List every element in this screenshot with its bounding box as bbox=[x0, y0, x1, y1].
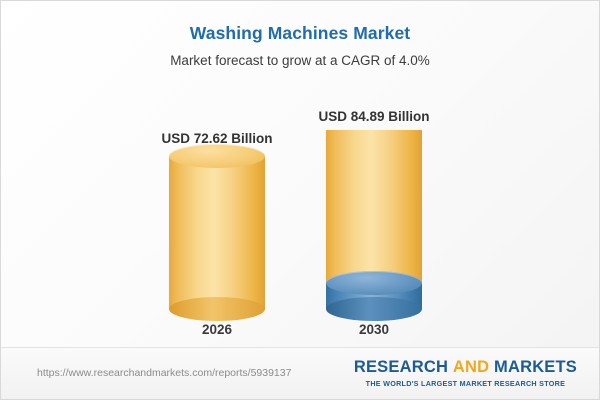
category-label-2030: 2030 bbox=[309, 322, 439, 337]
logo-tagline: THE WORLD'S LARGEST MARKET RESEARCH STOR… bbox=[354, 379, 577, 388]
logo-wordmark: RESEARCH AND MARKETS bbox=[354, 358, 577, 377]
segment-top-cap bbox=[326, 271, 422, 295]
bar-value-label: USD 84.89 Billion bbox=[284, 109, 464, 124]
cylinder-stack-2026[interactable] bbox=[169, 156, 265, 309]
chart-plot-area: USD 72.62 Billion 2026 USD 84.89 Billion bbox=[1, 1, 600, 349]
chart-card: Washing Machines Market Market forecast … bbox=[0, 0, 600, 400]
bar-segment-base[interactable] bbox=[169, 156, 265, 309]
bar-segment-base[interactable] bbox=[326, 130, 422, 283]
cylinder-stack-2030[interactable] bbox=[326, 130, 422, 309]
segment-top-cap bbox=[169, 144, 265, 168]
segment-body bbox=[326, 130, 422, 283]
bar-group-2030: USD 84.89 Billion 2030 bbox=[309, 1, 439, 349]
logo-word-markets: MARKETS bbox=[494, 358, 577, 376]
research-and-markets-logo[interactable]: RESEARCH AND MARKETS THE WORLD'S LARGEST… bbox=[354, 358, 577, 388]
category-label-2026: 2026 bbox=[152, 322, 282, 337]
segment-bottom-cap bbox=[169, 297, 265, 321]
segment-bottom-cap bbox=[326, 297, 422, 321]
footer-bar: https://www.researchandmarkets.com/repor… bbox=[1, 347, 600, 399]
logo-word-research: RESEARCH bbox=[354, 358, 448, 376]
bar-segment-growth[interactable] bbox=[326, 283, 422, 309]
bar-group-2026: USD 72.62 Billion 2026 bbox=[152, 1, 282, 349]
source-url-link[interactable]: https://www.researchandmarkets.com/repor… bbox=[37, 367, 291, 379]
segment-body bbox=[169, 156, 265, 309]
logo-word-and: AND bbox=[453, 358, 489, 376]
